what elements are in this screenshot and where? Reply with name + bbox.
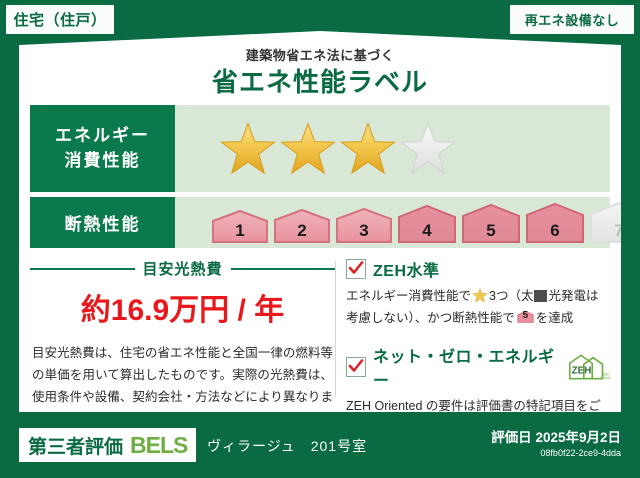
bels-logo-jp: 第三者評価 <box>28 432 123 459</box>
svg-text:Oriented: Oriented <box>600 376 610 380</box>
cost-heading-text: 目安光熱費 <box>143 258 223 279</box>
star-rating <box>175 122 456 176</box>
insulation-level-house: 3 <box>334 206 394 245</box>
insulation-level-house: 4 <box>396 203 458 245</box>
insulation-level-number: 7 <box>588 221 640 241</box>
property-name: ヴィラージュ 201号室 <box>207 436 367 456</box>
label-card: 建築物省エネ法に基づく 省エネ性能ラベル エネルギー 消費性能 <box>19 31 621 412</box>
insulation-level-house: 1 <box>210 208 270 245</box>
star-empty-icon <box>400 122 456 176</box>
insulation-level-number: 1 <box>210 221 270 241</box>
insulation-level-house: 6 <box>524 201 586 245</box>
footer-bar: 第三者評価 BELS ヴィラージュ 201号室 評価日 2025年9月2日 08… <box>0 412 640 478</box>
evaluation-id: 08fb0f22-2ce9-4dda <box>491 448 621 458</box>
zeh-net-zero-title: ネット・ゼロ・エネルギー <box>373 343 558 391</box>
star-filled-icon <box>340 122 396 176</box>
energy-label-line1: エネルギー <box>55 124 150 149</box>
zeh-standard-block: ZEH水準 エネルギー消費性能で3つ（太光発電は考慮しない）、かつ断熱性能で5を… <box>346 257 610 329</box>
lower-section: 目安光熱費 約16.9万円 / 年 目安光熱費は、住宅の省エネ性能と全国一律の燃… <box>30 255 610 403</box>
insulation-performance-row: 断熱性能 1 <box>30 197 610 248</box>
bels-logo-en: BELS <box>130 432 187 459</box>
insulation-performance-body: 1 2 3 <box>175 200 640 245</box>
insulation-performance-label-box: 断熱性能 <box>30 197 175 248</box>
energy-performance-row: エネルギー 消費性能 <box>30 105 610 192</box>
evaluation-info: 評価日 2025年9月2日 08fb0f22-2ce9-4dda <box>491 426 621 458</box>
heading-rule-left <box>30 268 135 270</box>
insulation-level-number: 5 <box>460 221 522 241</box>
insulation-level-number: 2 <box>272 221 332 241</box>
zeh-section: ZEH水準 エネルギー消費性能で3つ（太光発電は考慮しない）、かつ断熱性能で5を… <box>346 255 610 403</box>
cost-section: 目安光熱費 約16.9万円 / 年 目安光熱費は、住宅の省エネ性能と全国一律の燃… <box>30 255 335 403</box>
energy-performance-label-box: エネルギー 消費性能 <box>30 105 175 192</box>
energy-label-line2: 消費性能 <box>65 149 141 174</box>
heading-rule-right <box>231 268 336 270</box>
insulation-level-number: 4 <box>396 221 458 241</box>
star-filled-icon <box>220 122 276 176</box>
zeh-body-text-2: 3つ（太 <box>489 289 533 303</box>
zeh-standard-body: エネルギー消費性能で3つ（太光発電は考慮しない）、かつ断熱性能で5を達成 <box>346 286 610 329</box>
cost-value: 約16.9万円 / 年 <box>30 285 335 329</box>
badge-dwelling-type: 住宅（住戸） <box>6 5 114 34</box>
badge-renewable-equipment: 再エネ設備なし <box>510 5 634 34</box>
zeh-logo-icon: ZEH ZEH Oriented <box>567 352 610 382</box>
redaction-block <box>534 290 547 302</box>
evaluation-date: 評価日 2025年9月2日 <box>491 426 621 446</box>
energy-performance-body <box>175 122 610 176</box>
zeh-body-text-4: を達成 <box>536 311 574 325</box>
inline-house-icon: 5 <box>517 309 534 325</box>
checkbox-checked-icon[interactable] <box>346 357 366 377</box>
cost-heading: 目安光熱費 <box>30 258 335 279</box>
section-divider <box>335 261 336 397</box>
inline-star-icon <box>472 288 488 303</box>
checkbox-checked-icon[interactable] <box>346 259 366 279</box>
zeh-standard-header: ZEH水準 <box>346 257 610 281</box>
insulation-level-scale: 1 2 3 <box>175 200 640 245</box>
svg-text:ZEH: ZEH <box>572 366 592 377</box>
inline-house-level: 5 <box>517 307 534 324</box>
star-filled-icon <box>280 122 336 176</box>
zeh-net-zero-header: ネット・ゼロ・エネルギー ZEH ZEH Oriented <box>346 343 610 391</box>
zeh-body-text-1: エネルギー消費性能で <box>346 289 471 303</box>
insulation-level-house: 5 <box>460 202 522 245</box>
zeh-standard-title: ZEH水準 <box>373 257 440 281</box>
insulation-level-house-empty: 7 <box>588 200 640 245</box>
insulation-level-number: 6 <box>524 221 586 241</box>
bels-logo: 第三者評価 BELS <box>19 428 196 462</box>
insulation-level-number: 3 <box>334 221 394 241</box>
energy-performance-label: 住宅（住戸） 再エネ設備なし 建築物省エネ法に基づく 省エネ性能ラベル エネルギ… <box>0 0 640 478</box>
page-title: 省エネ性能ラベル <box>19 62 621 99</box>
insulation-level-house: 2 <box>272 207 332 245</box>
